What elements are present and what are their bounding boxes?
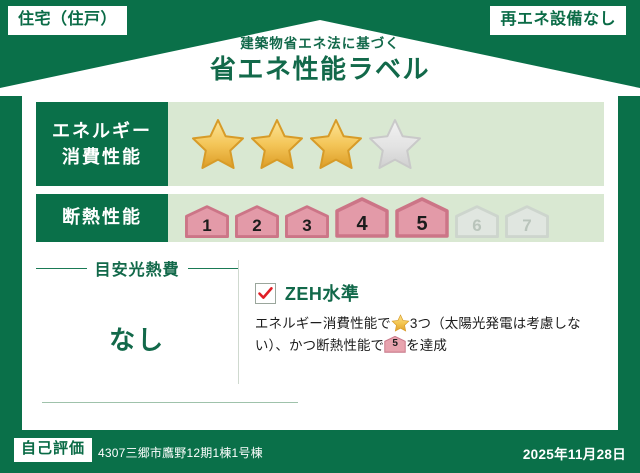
badge-shape-icon [394,197,450,239]
insulation-performance-row: 断熱性能 1234567 [36,194,604,242]
insulation-level-badge: 7 [504,205,550,239]
utility-cost-heading: 目安光熱費 [36,256,238,280]
badge-shape-icon [504,205,550,239]
badge-shape-icon [454,205,500,239]
label-header: 住宅（住戸） 再エネ設備なし 建築物省エネ法に基づく 省エネ性能ラベル [0,0,640,96]
zeh-desc-part3: を達成 [406,338,447,353]
utility-cost-value: なし [36,320,238,357]
insulation-level-badge: 4 [334,197,390,239]
insulation-level-badge: 3 [284,205,330,239]
insulation-level-badge: 6 [454,205,500,239]
inline-badge-shape-icon [384,336,406,353]
inline-star-icon [391,314,410,332]
energy-performance-label: 住宅（住戸） 再エネ設備なし 建築物省エネ法に基づく 省エネ性能ラベル エネルギ… [0,0,640,473]
label-footer: 自己評価 4307三郷市鷹野12期1棟1号棟 2025年11月28日 [0,430,640,473]
check-icon [257,285,274,302]
evaluation-type-tag: 自己評価 [14,438,92,462]
insulation-rating-value: 1234567 [168,194,604,242]
badge-shape-icon [184,205,230,239]
renewable-energy-tag: 再エネ設備なし [490,6,626,35]
insulation-label-text: 断熱性能 [62,207,142,229]
badge-shape-icon [284,205,330,239]
energy-rating-value [168,102,604,186]
star-filled-icon [190,117,246,171]
utility-cost-section: 目安光熱費 なし [36,254,238,414]
insulation-performance-label: 断熱性能 [36,194,168,242]
utility-cost-heading-text: 目安光熱費 [95,256,180,280]
label-card: エネルギー 消費性能 断熱性能 1234567 目安光熱費 [22,88,618,430]
issue-date: 2025年11月28日 [523,443,626,463]
page-title: 省エネ性能ラベル [0,55,640,85]
zeh-checkbox[interactable] [255,283,276,304]
zeh-description: エネルギー消費性能で3つ（太陽光発電は考慮しない）、かつ断熱性能で5を達成 [255,313,604,357]
energy-label-line2: 消費性能 [62,144,142,170]
inline-insulation-badge: 5 [384,336,406,353]
star-rating [190,117,423,171]
insulation-level-badge: 5 [394,197,450,239]
building-type-tag: 住宅（住戸） [8,6,127,35]
label-bottom-section: 目安光熱費 なし ZEH水準 エネルギー消費性能で3つ（太陽 [36,254,604,414]
star-empty-icon [367,117,423,171]
energy-performance-label: エネルギー 消費性能 [36,102,168,186]
insulation-level-badge: 1 [184,205,230,239]
zeh-desc-part1: エネルギー消費性能で [255,316,391,331]
heading-rule-left [36,268,87,269]
energy-performance-row: エネルギー 消費性能 [36,102,604,186]
heading-rule-right [188,268,239,269]
zeh-section: ZEH水準 エネルギー消費性能で3つ（太陽光発電は考慮しない）、かつ断熱性能で5… [255,254,604,414]
energy-label-line1: エネルギー [52,118,152,144]
insulation-level-badge: 2 [234,205,280,239]
badge-shape-icon [234,205,280,239]
insulation-level-scale: 1234567 [184,197,550,239]
title-subtitle: 建築物省エネ法に基づく [0,36,640,52]
star-filled-icon [308,117,364,171]
property-address: 4307三郷市鷹野12期1棟1号棟 [98,444,263,461]
star-filled-icon [249,117,305,171]
badge-shape-icon [334,197,390,239]
label-title-block: 建築物省エネ法に基づく 省エネ性能ラベル [0,36,640,85]
zeh-title-row: ZEH水準 [255,280,604,306]
section-divider [238,260,239,384]
zeh-title-text: ZEH水準 [285,280,360,306]
